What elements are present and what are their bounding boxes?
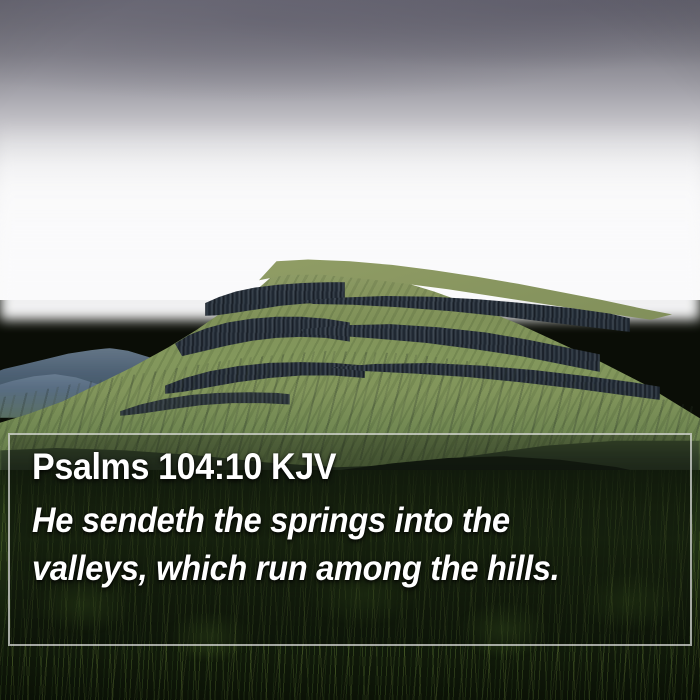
verse-reference: Psalms 104:10 KJV xyxy=(32,445,617,489)
verse-text: He sendeth the springs into the valleys,… xyxy=(32,497,623,593)
verse-text-line-2: valleys, which run among the hills. xyxy=(32,545,623,593)
verse-text-line-1: He sendeth the springs into the xyxy=(32,497,623,545)
verse-image-card: Psalms 104:10 KJV He sendeth the springs… xyxy=(0,0,700,700)
verse-overlay-panel: Psalms 104:10 KJV He sendeth the springs… xyxy=(8,433,692,646)
